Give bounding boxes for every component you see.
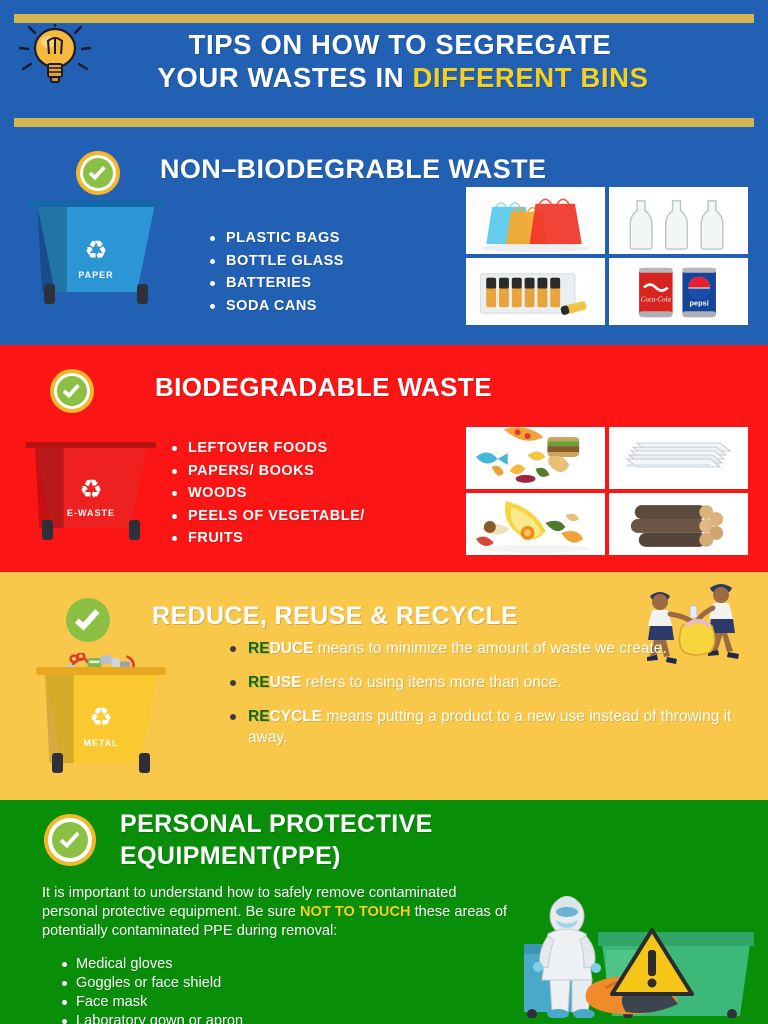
header-title-line-2: YOUR WASTES IN DIFFERENT BINS xyxy=(32,61,768,94)
list-item: SODA CANS xyxy=(210,295,344,318)
green-check-badge xyxy=(76,151,120,195)
keyword-prefix: RE xyxy=(248,708,270,725)
bin-lid xyxy=(28,201,164,207)
badge-inner-circle xyxy=(57,376,87,406)
ppe-paragraph-highlight: NOT TO TOUCH xyxy=(300,904,411,920)
bin-shadow xyxy=(45,675,74,763)
badge-inner-circle xyxy=(66,598,110,642)
ppe-paragraph: It is important to understand how to saf… xyxy=(42,884,512,941)
section-ppe: PERSONAL PROTECTIVE EQUIPMENT(PPE) It is… xyxy=(0,800,768,1024)
bin-wheel-left xyxy=(52,753,63,773)
list-item: PLASTIC BAGS xyxy=(210,227,344,250)
list-item: Face mask xyxy=(58,993,243,1012)
keyword-prefix: RE xyxy=(248,674,270,691)
section-title-ppe-line-1: PERSONAL PROTECTIVE xyxy=(120,810,433,839)
list-item-reduce: REDUCE means to minimize the amount of w… xyxy=(228,638,733,659)
header-banner: TIPS ON HOW TO SEGREGATE YOUR WASTES IN … xyxy=(0,0,768,139)
list-item: Medical gloves xyxy=(58,955,243,974)
svg-text:Coca-Cola: Coca-Cola xyxy=(641,296,672,303)
list-item: FRUITS xyxy=(172,527,365,550)
bin-ewaste: ♻ E-WASTE xyxy=(26,442,156,542)
recycle-icon: ♻ xyxy=(79,476,102,502)
check-icon xyxy=(88,162,105,180)
section-biodegradable: BIODEGRADABLE WASTE ♻ E-WASTE LEFTOVER F… xyxy=(0,345,768,572)
soda-cans-photo: Coca-Cola pepsi xyxy=(609,258,748,325)
check-icon xyxy=(75,605,100,631)
green-check-badge xyxy=(50,369,94,413)
recycle-icon: ♻ xyxy=(84,237,107,263)
section-non-biodegradable: NON–BIODEGRABLE WASTE ♻ PAPER PLASTIC BA… xyxy=(0,139,768,345)
green-check-badge xyxy=(66,598,110,642)
list-biodegradable: LEFTOVER FOODS PAPERS/ BOOKS WOODS PEELS… xyxy=(172,437,365,550)
bin-wheel-left xyxy=(42,520,53,540)
bin-shadow xyxy=(35,448,64,528)
list-item: LEFTOVER FOODS xyxy=(172,437,365,460)
keyword-suffix: USE xyxy=(270,674,302,691)
list-item: PAPERS/ BOOKS xyxy=(172,460,365,483)
bin-label: METAL xyxy=(83,738,118,748)
list-ppe: Medical gloves Goggles or face shield Fa… xyxy=(58,955,243,1024)
header-title-highlight: DIFFERENT BINS xyxy=(412,62,648,93)
list-item-recycle: RECYCLE means putting a product to a new… xyxy=(228,706,733,748)
green-check-badge xyxy=(44,814,96,866)
badge-inner-circle xyxy=(83,158,113,188)
fruit-peels-photo xyxy=(466,493,605,555)
section-title-ppe-line-2: EQUIPMENT(PPE) xyxy=(120,842,341,871)
section-title-reduce-reuse-recycle: REDUCE, REUSE & RECYCLE xyxy=(152,602,518,631)
bin-wheel-left xyxy=(44,284,55,304)
bin-label: PAPER xyxy=(78,270,113,280)
bin-lid xyxy=(36,667,166,675)
list-item: BATTERIES xyxy=(210,272,344,295)
bin-paper: ♻ PAPER xyxy=(28,201,164,306)
header-title-line-1: TIPS ON HOW TO SEGREGATE xyxy=(32,28,768,61)
list-item: WOODS xyxy=(172,482,365,505)
list-reduce-reuse-recycle: REDUCE means to minimize the amount of w… xyxy=(228,638,733,761)
logs-photo xyxy=(609,493,748,555)
bin-wheel-right xyxy=(139,753,150,773)
list-item: Laboratory gown or apron xyxy=(58,1012,243,1024)
bin-wheel-right xyxy=(129,520,140,540)
badge-inner-circle xyxy=(52,822,88,858)
list-item: Goggles or face shield xyxy=(58,974,243,993)
list-item: PEELS OF VEGETABLE/ xyxy=(172,505,365,528)
infographic-poster: TIPS ON HOW TO SEGREGATE YOUR WASTES IN … xyxy=(0,0,768,1024)
keyword-suffix: CYCLE xyxy=(270,708,323,725)
food-scraps-photo xyxy=(466,427,605,489)
section-reduce-reuse-recycle: REDUCE, REUSE & RECYCLE xyxy=(0,572,768,800)
recycle-icon: ♻ xyxy=(89,704,112,730)
plastic-bags-photo xyxy=(466,187,605,254)
svg-text:pepsi: pepsi xyxy=(690,298,709,307)
bin-wheel-right xyxy=(137,284,148,304)
keyword-suffix: DUCE xyxy=(270,640,314,657)
list-item-text: means to minimize the amount of waste we… xyxy=(313,640,666,657)
gold-glitter-divider-bottom xyxy=(14,118,754,127)
bin-lid xyxy=(26,442,156,448)
list-item-reuse: REUSE refers to using items more than on… xyxy=(228,672,733,693)
paper-stack-photo xyxy=(609,427,748,489)
check-icon xyxy=(59,828,79,849)
section-title-biodegradable: BIODEGRADABLE WASTE xyxy=(155,372,492,403)
list-non-biodegradable: PLASTIC BAGS BOTTLE GLASS BATTERIES SODA… xyxy=(210,227,344,317)
header-title-line-2-plain: YOUR WASTES IN xyxy=(157,62,412,93)
photo-grid-biodegradable xyxy=(466,427,748,555)
list-item-text: refers to using items more than once. xyxy=(301,674,561,691)
keyword-prefix: RE xyxy=(248,640,270,657)
bin-label: E-WASTE xyxy=(67,508,115,518)
photo-grid-non-biodegradable: Coca-Cola pepsi xyxy=(466,187,748,325)
bin-metal: ♻ METAL xyxy=(36,667,166,775)
gold-glitter-divider-top xyxy=(14,14,754,23)
section-title-non-biodegradable: NON–BIODEGRABLE WASTE xyxy=(160,154,546,185)
list-item: BOTTLE GLASS xyxy=(210,250,344,273)
batteries-photo xyxy=(466,258,605,325)
check-icon xyxy=(62,380,79,398)
worker-in-ppe-with-bins-illustration xyxy=(510,888,760,1018)
header-title: TIPS ON HOW TO SEGREGATE YOUR WASTES IN … xyxy=(0,28,768,94)
glass-bottles-photo xyxy=(609,187,748,254)
bin-shadow xyxy=(38,207,68,292)
